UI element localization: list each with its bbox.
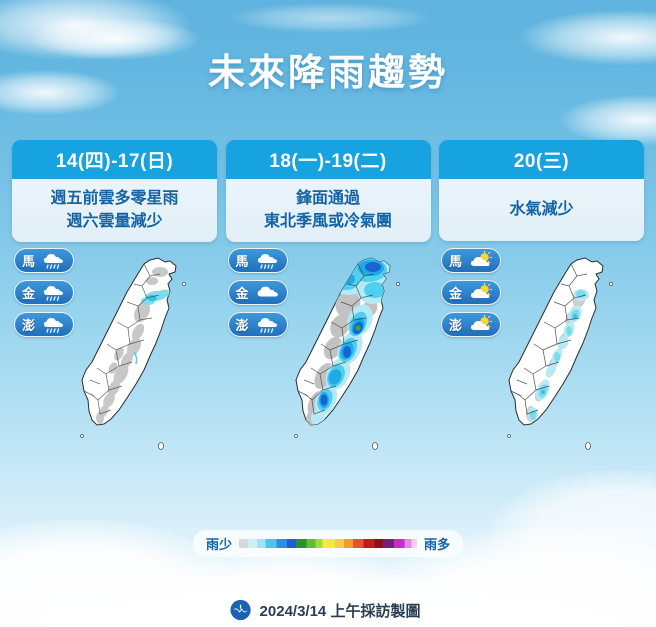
- forecast-panel-2: 18(一)-19(二) 鋒面通過 東北季風或冷氣團 馬: [226, 140, 431, 470]
- cloud-bank-icon: [490, 470, 656, 600]
- island-label: 金: [234, 283, 251, 302]
- legend-color-bar: [239, 539, 417, 548]
- taiwan-rainfall-map-1: [64, 248, 214, 463]
- description-line-1: 鋒面通過: [230, 187, 427, 210]
- forecast-card-3: 20(三) 水氣減少: [439, 140, 644, 241]
- description-line-2: 週六雲量減少: [16, 210, 213, 233]
- description-1: 週五前雲多零星雨 週六雲量減少: [12, 179, 217, 242]
- footer-credit: 2024/3/14 上午採訪製圖: [220, 596, 437, 624]
- forecast-columns: 14(四)-17(日) 週五前雲多零星雨 週六雲量減少 馬: [0, 140, 656, 470]
- description-2: 鋒面通過 東北季風或冷氣團: [226, 179, 431, 242]
- taiwan-rainfall-map-2: [278, 248, 428, 463]
- date-range-1: 14(四)-17(日): [12, 140, 217, 179]
- forecast-panel-3: 20(三) 水氣減少 馬: [439, 140, 644, 470]
- island-label: 澎: [234, 315, 251, 334]
- footer-text: 2024/3/14 上午採訪製圖: [260, 600, 421, 621]
- description-line-1: 週五前雲多零星雨: [16, 187, 213, 210]
- forecast-card-1: 14(四)-17(日) 週五前雲多零星雨 週六雲量減少: [12, 140, 217, 242]
- cloud-wisp-icon: [560, 95, 656, 145]
- legend-low-label: 雨少: [206, 534, 232, 553]
- cloud-wisp-icon: [230, 3, 430, 33]
- taiwan-rainfall-map-3: [491, 248, 641, 463]
- date-range-3: 20(三): [439, 140, 644, 179]
- description-3: 水氣減少: [439, 179, 644, 241]
- rainfall-legend: 雨少 雨多: [193, 530, 463, 557]
- legend-high-label: 雨多: [424, 534, 450, 553]
- island-label: 金: [20, 283, 37, 302]
- forecast-card-2: 18(一)-19(二) 鋒面通過 東北季風或冷氣團: [226, 140, 431, 242]
- island-label: 澎: [447, 315, 464, 334]
- description-line-1: 水氣減少: [443, 198, 640, 221]
- cwa-logo-icon: [230, 599, 252, 621]
- date-range-2: 18(一)-19(二): [226, 140, 431, 179]
- island-label: 馬: [20, 251, 37, 270]
- infographic-root: 未來降雨趨勢 14(四)-17(日) 週五前雲多零星雨 週六雲量減少 馬: [0, 0, 656, 627]
- island-label: 金: [447, 283, 464, 302]
- description-line-2: 東北季風或冷氣團: [230, 210, 427, 233]
- page-title: 未來降雨趨勢: [0, 42, 656, 96]
- island-label: 馬: [447, 251, 464, 270]
- island-label: 馬: [234, 251, 251, 270]
- island-label: 澎: [20, 315, 37, 334]
- forecast-panel-1: 14(四)-17(日) 週五前雲多零星雨 週六雲量減少 馬: [12, 140, 217, 470]
